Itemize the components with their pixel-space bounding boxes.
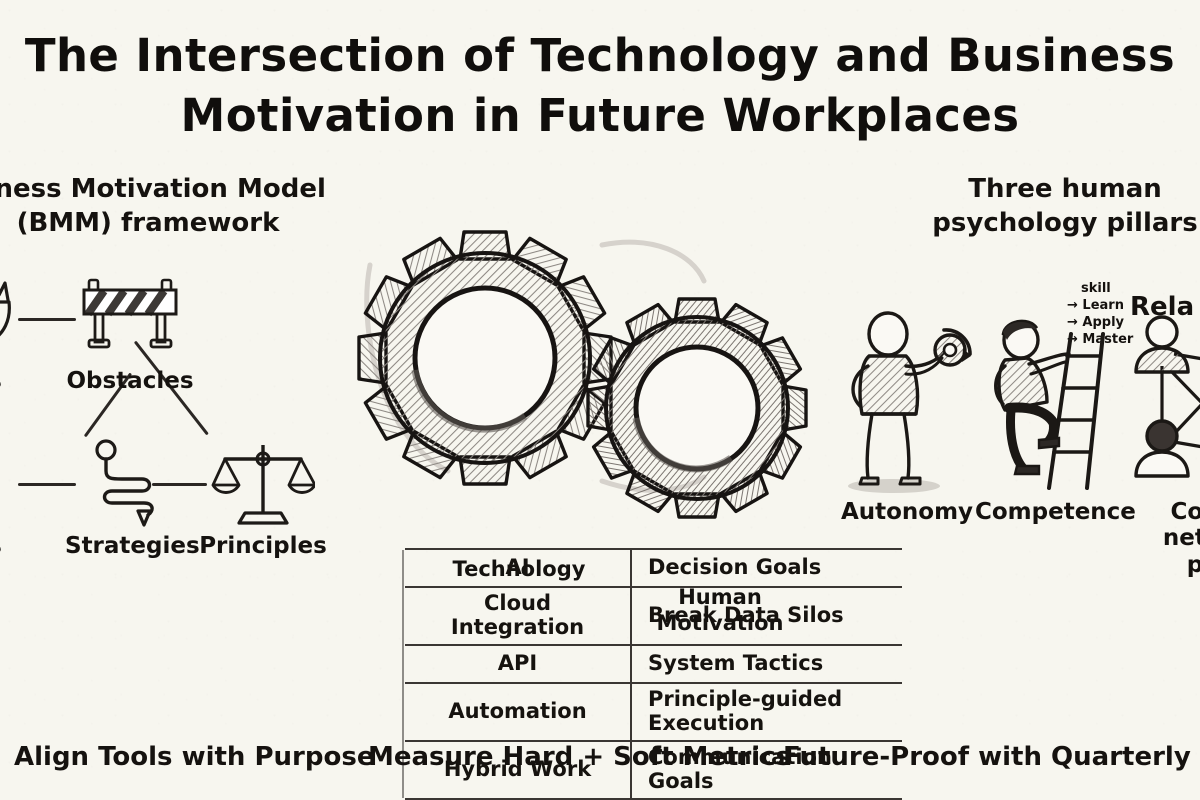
table-cell-tech: AI [405, 549, 631, 587]
pillar-relatedness-label: Con netw p [1120, 499, 1200, 578]
pillar-relatedness-label-line-3: p [1120, 552, 1200, 578]
footer-item-future-proof: Future-Proof with Quarterly Review [783, 742, 1200, 772]
road-barrier-icon [65, 270, 195, 366]
bmm-node-obstacles: Obstacles [65, 270, 195, 394]
table-row: API System Tactics [405, 645, 902, 683]
footer-item-align-tools: Align Tools with Purpose [14, 742, 374, 772]
footer-item-measure-metrics: Measure Hard + Soft Metrics [368, 742, 791, 772]
table-cell-tech: API [405, 645, 631, 683]
pillar-relatedness: Con netw p [1120, 310, 1200, 578]
bmm-node-principles-label: Principles [198, 533, 328, 559]
bmm-node-means: s [0, 435, 60, 559]
title-line-1: The Intersection of Technology and Busin… [0, 26, 1200, 86]
table-cell-tech: Automation [405, 683, 631, 741]
person-turning-dial-icon [832, 310, 982, 495]
table-cell-business: System Tactics [631, 645, 902, 683]
bmm-node-obstacles-label: Obstacles [65, 368, 195, 394]
page-title: The Intersection of Technology and Busin… [0, 26, 1200, 146]
arrow-marker-icon [0, 435, 60, 531]
footer-takeaways: Align Tools with Purpose Measure Hard + … [0, 742, 1200, 786]
title-line-2: Motivation in Future Workplaces [0, 86, 1200, 146]
table-row: Cloud Integration Break Data Silos [405, 587, 902, 645]
bmm-diagram: s [0, 270, 360, 590]
bmm-node-means-label: s [0, 533, 60, 559]
pillars-heading-line-1: Three human [915, 172, 1200, 206]
person-climbing-ladder-icon [975, 310, 1125, 495]
pillar-autonomy: Autonomy [832, 310, 982, 525]
table-cell-business: Break Data Silos [631, 587, 902, 645]
bmm-node-strategies-label: Strategies [65, 533, 195, 559]
pillar-relatedness-label-line-1: Con [1120, 499, 1200, 525]
whiteboard-canvas: The Intersection of Technology and Busin… [0, 0, 1200, 800]
pillars-heading-line-2: psychology pillars [915, 206, 1200, 240]
bmm-heading-line-1: siness Motivation Model [0, 172, 338, 206]
table-row: Automation Principle-guided Execution [405, 683, 902, 741]
balance-scales-icon [198, 435, 328, 531]
table-cell-business: Principle-guided Execution [631, 683, 902, 741]
bmm-node-ends: s [0, 270, 60, 394]
gear-technology [359, 232, 611, 484]
gears-illustration: Technology Human Motivation [352, 225, 832, 525]
pillar-relatedness-label-line-2: netw [1120, 525, 1200, 551]
flag-crown-icon [0, 270, 60, 366]
table-cell-tech: Cloud Integration [405, 587, 631, 645]
winding-path-arrow-icon [65, 435, 195, 531]
bmm-node-principles: Principles [198, 435, 328, 559]
pillar-competence: Competence [975, 310, 1125, 525]
bmm-node-ends-label: s [0, 368, 60, 394]
pillars-section-heading: Three human psychology pillars [915, 172, 1200, 241]
bmm-section-heading: siness Motivation Model (BMM) framework [0, 172, 338, 241]
psychology-pillars: skill → Learn → Apply → Master Rela [820, 300, 1200, 560]
bmm-node-strategies: Strategies [65, 435, 195, 559]
pillar-competence-label: Competence [975, 499, 1125, 525]
pillar-autonomy-label: Autonomy [832, 499, 982, 525]
bmm-heading-line-2: (BMM) framework [0, 206, 338, 240]
people-network-icon [1120, 310, 1200, 495]
